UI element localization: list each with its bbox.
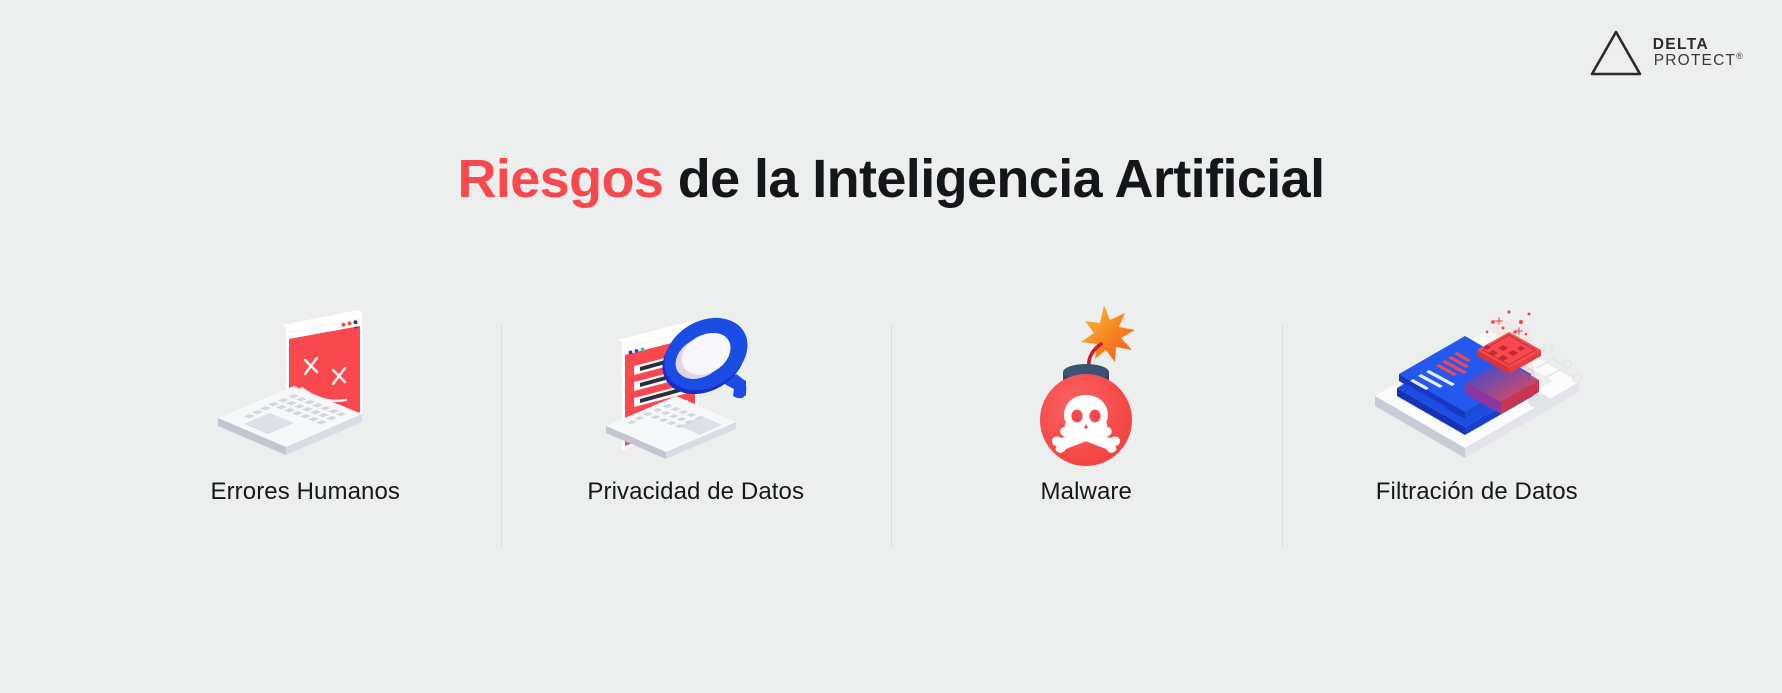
infographic-page: DELTA PROTECT® Riesgos de la Inteligenci… [0,0,1782,693]
risk-label: Filtración de Datos [1376,478,1578,506]
risk-label: Privacidad de Datos [587,478,804,506]
laptop-magnifier-icon [501,300,892,470]
delta-triangle-icon [1589,28,1643,78]
brand-logo: DELTA PROTECT® [1589,28,1744,78]
page-title-rest: de la Inteligencia Artificial [663,149,1324,209]
risk-label: Errores Humanos [210,478,400,506]
bomb-skull-icon [891,300,1282,470]
risk-label: Malware [1041,478,1132,506]
risk-card-filtracion-de-datos[interactable]: Filtración de Datos [1282,300,1673,560]
risk-card-list: Errores Humanos [110,300,1672,560]
risk-card-privacidad-de-datos[interactable]: Privacidad de Datos [501,300,892,560]
brand-name-delta: DELTA [1653,37,1744,53]
laptop-sad-face-icon [110,300,501,470]
brand-name-protect: PROTECT® [1654,52,1744,69]
brand-wordmark: DELTA PROTECT® [1653,37,1744,70]
phone-data-leak-icon [1282,300,1673,470]
risk-card-malware[interactable]: Malware [891,300,1282,560]
registered-mark: ® [1736,51,1744,61]
page-title-accent: Riesgos [457,149,663,209]
page-title: Riesgos de la Inteligencia Artificial [0,148,1782,210]
risk-card-errores-humanos[interactable]: Errores Humanos [110,300,501,560]
